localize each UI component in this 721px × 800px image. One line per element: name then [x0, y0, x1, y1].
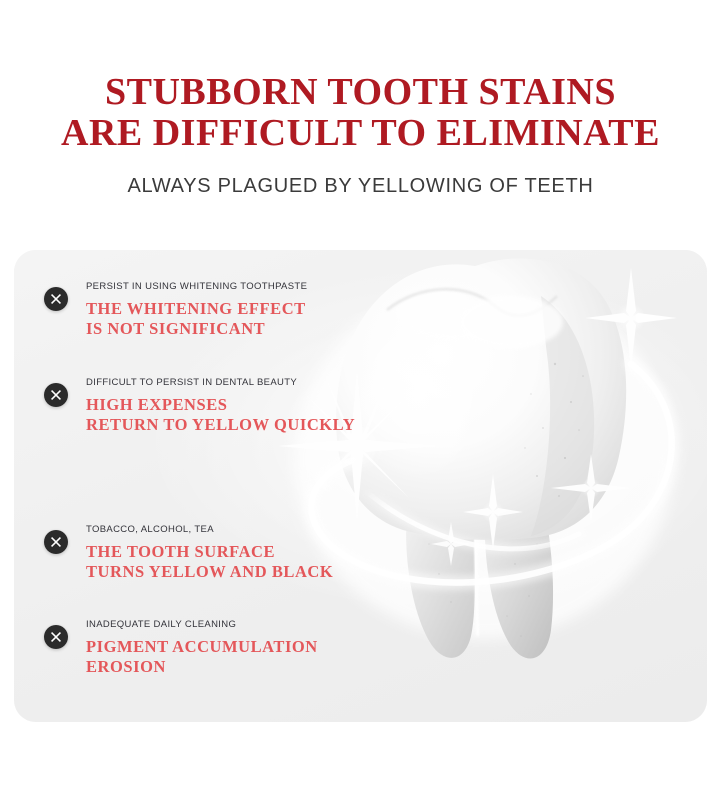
list-item-title: THE WHITENING EFFECT IS NOT SIGNIFICANT: [86, 293, 342, 338]
sparkle-mid-right: [551, 454, 631, 522]
sparkle-bottom-small: [431, 522, 471, 566]
list-item-caption: TOBACCO, ALCOHOL, TEA: [86, 523, 342, 536]
list-item-title: THE TOOTH SURFACE TURNS YELLOW AND BLACK: [86, 536, 342, 581]
sparkle-lower-center: [463, 474, 523, 550]
list-item-title-line-1: THE WHITENING EFFECT: [86, 299, 306, 318]
headline-line-2: ARE DIFFICULT TO ELIMINATE: [0, 113, 721, 154]
list-item-body: INADEQUATE DAILY CLEANING PIGMENT ACCUMU…: [86, 618, 342, 676]
tooth-roots: [406, 506, 553, 659]
tooth-crown: [336, 258, 626, 540]
list-item-body: DIFFICULT TO PERSIST IN DENTAL BEAUTY HI…: [86, 376, 342, 434]
circle-x-icon: [44, 530, 68, 554]
list-item: DIFFICULT TO PERSIST IN DENTAL BEAUTY HI…: [32, 376, 342, 434]
list-item-body: PERSIST IN USING WHITENING TOOTHPASTE TH…: [86, 280, 342, 338]
list-item-title-line-2: RETURN TO YELLOW QUICKLY: [86, 415, 342, 435]
list-item: TOBACCO, ALCOHOL, TEA THE TOOTH SURFACE …: [32, 523, 342, 581]
list-item-title: HIGH EXPENSES RETURN TO YELLOW QUICKLY: [86, 389, 342, 434]
list-item-caption: INADEQUATE DAILY CLEANING: [86, 618, 342, 631]
circle-x-icon: [44, 625, 68, 649]
list-item-title: PIGMENT ACCUMULATION EROSION: [86, 631, 342, 676]
circle-x-icon: [44, 287, 68, 311]
list-item-title-line-2: TURNS YELLOW AND BLACK: [86, 562, 342, 582]
tooth-illustration: [279, 250, 707, 722]
list-item: PERSIST IN USING WHITENING TOOTHPASTE TH…: [32, 280, 342, 338]
list-item-title-line-1: PIGMENT ACCUMULATION: [86, 637, 318, 656]
circle-x-icon: [44, 383, 68, 407]
sparkle-top-right: [585, 268, 677, 368]
list-item-caption: DIFFICULT TO PERSIST IN DENTAL BEAUTY: [86, 376, 342, 389]
content-card: PERSIST IN USING WHITENING TOOTHPASTE TH…: [14, 250, 707, 722]
list-item-title-line-2: EROSION: [86, 657, 342, 677]
header: STUBBORN TOOTH STAINS ARE DIFFICULT TO E…: [0, 0, 721, 198]
page-subtitle: ALWAYS PLAGUED BY YELLOWING OF TEETH: [0, 154, 721, 198]
page-title: STUBBORN TOOTH STAINS ARE DIFFICULT TO E…: [0, 0, 721, 154]
list-item-caption: PERSIST IN USING WHITENING TOOTHPASTE: [86, 280, 342, 293]
list-item-title-line-2: IS NOT SIGNIFICANT: [86, 319, 342, 339]
list-item-body: TOBACCO, ALCOHOL, TEA THE TOOTH SURFACE …: [86, 523, 342, 581]
list-item-title-line-1: THE TOOTH SURFACE: [86, 542, 275, 561]
list-item: INADEQUATE DAILY CLEANING PIGMENT ACCUMU…: [32, 618, 342, 676]
swirl-ring: [311, 364, 671, 583]
headline-line-1: STUBBORN TOOTH STAINS: [105, 71, 616, 113]
list-item-title-line-1: HIGH EXPENSES: [86, 395, 227, 414]
